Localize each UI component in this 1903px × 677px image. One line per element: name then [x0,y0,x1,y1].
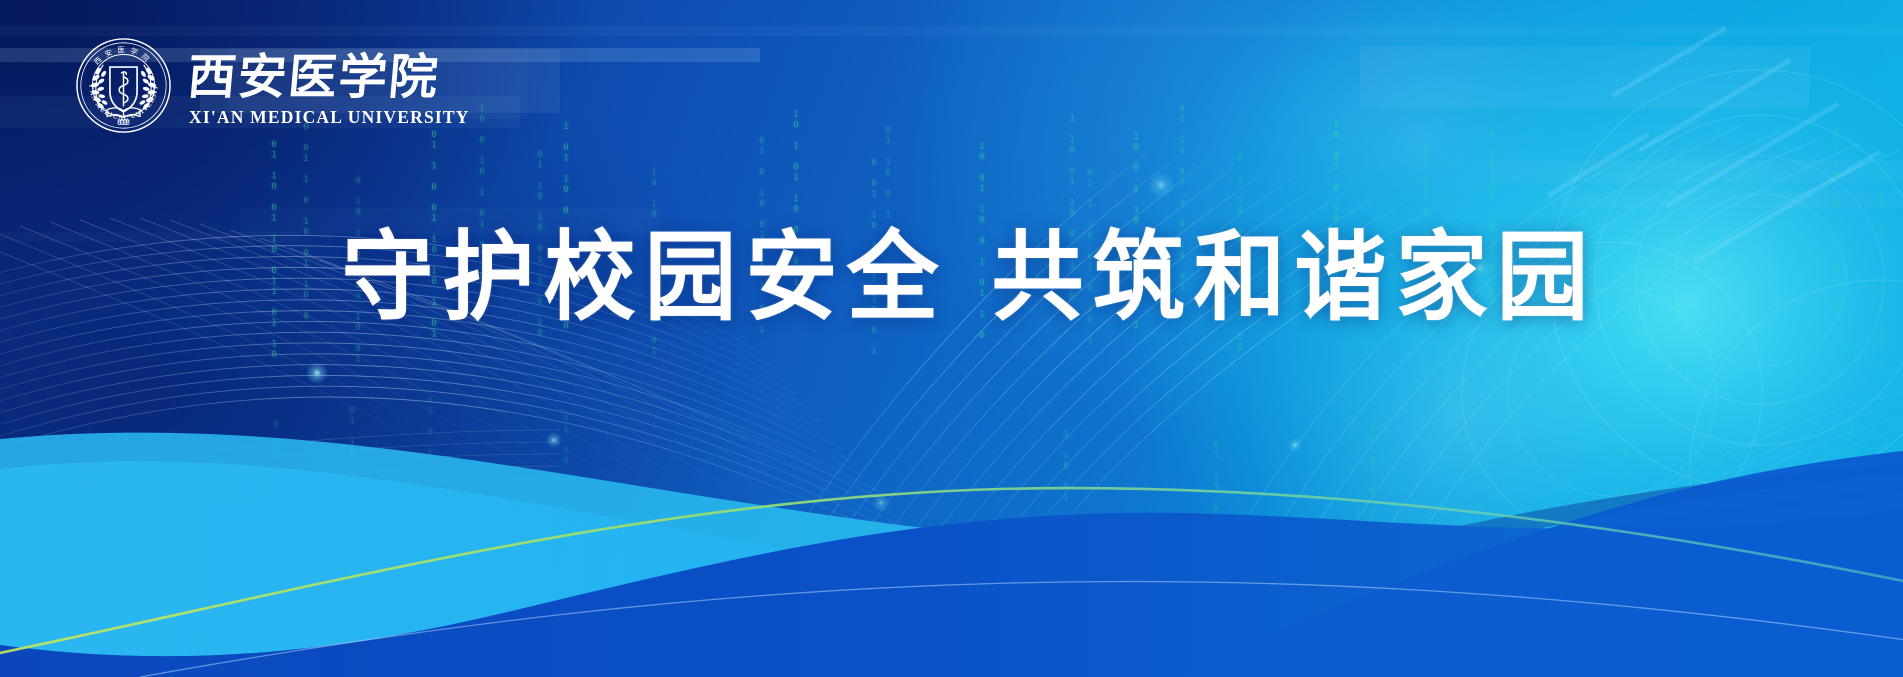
chinese-name-text: 西安医学院 [186,50,442,106]
university-seal-icon: 西安医学院 XI'AN MEDICAL UNIVERSITY [75,37,172,134]
campus-safety-banner: 01 10 01 10 011 01 10 10 01 1 0 10 01 10… [0,0,1903,677]
bottom-wave-decoration [0,377,1903,677]
headline-slogan: 守护校园安全共筑和谐家园 [341,225,1597,330]
seal-year-text: 1951 [118,120,130,125]
university-chinese-name: 西安医学院 [186,48,454,108]
university-english-name: XI'AN MEDICAL UNIVERSITY [186,109,470,127]
logo-wordmark: 西安医学院 XI'AN MEDICAL UNIVERSITY [186,44,470,127]
headline-part-1: 守护校园安全 [341,221,947,334]
university-logo[interactable]: 西安医学院 XI'AN MEDICAL UNIVERSITY [75,37,470,134]
headline-part-2: 共筑和谐家园 [992,221,1598,334]
headline-block: 守护校园安全共筑和谐家园 [0,228,1903,327]
